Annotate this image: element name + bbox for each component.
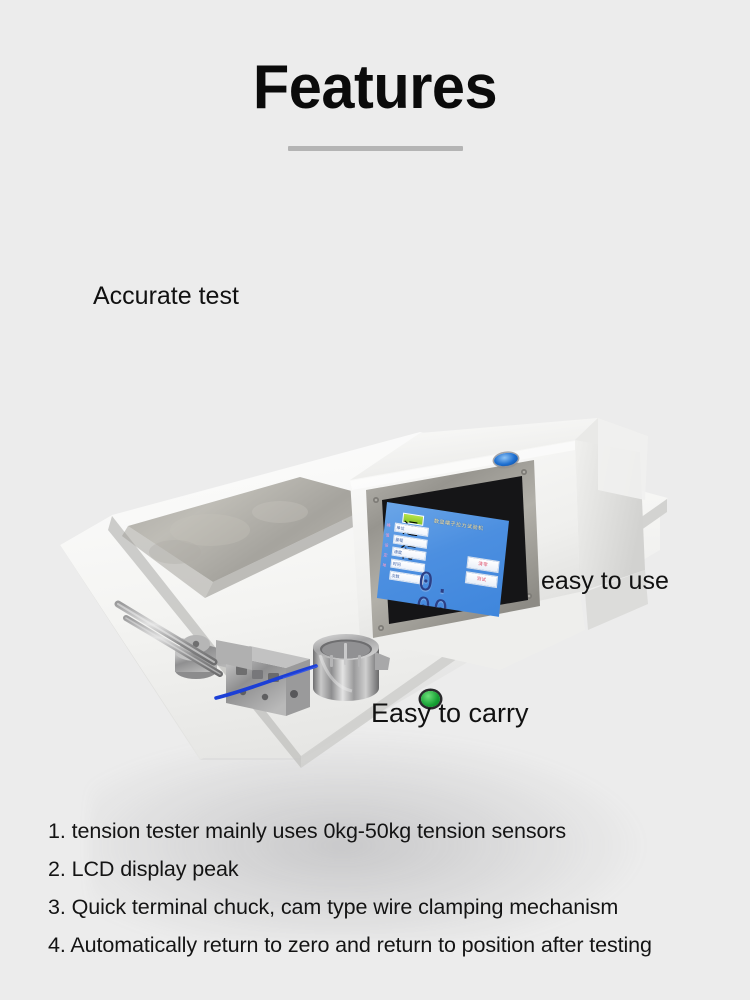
- callout-easy-to-use: easy to use: [541, 569, 669, 594]
- feature-list: 1. tension tester mainly uses 0kg-50kg t…: [48, 812, 738, 964]
- title-divider: [288, 146, 463, 151]
- lcd-field-label: 速度: [394, 549, 402, 554]
- feature-item: 4. Automatically return to zero and retu…: [48, 926, 738, 964]
- lcd-button-zero[interactable]: 清零: [466, 556, 499, 573]
- callout-easy-to-carry: Easy to carry: [371, 700, 529, 727]
- feature-item: 1. tension tester mainly uses 0kg-50kg t…: [48, 812, 738, 850]
- callout-accurate-test: Accurate test: [93, 284, 239, 309]
- lcd-field-label: 量程: [395, 537, 403, 542]
- lcd-title-bar: 数显端子拉力试验机: [419, 513, 498, 535]
- lcd-field-label: 单位: [396, 525, 404, 530]
- product-feature-page: Features: [0, 0, 750, 1000]
- lcd-screen[interactable]: 数显端子拉力试验机 运行 峰 值 设 定 单 单位 量程 速度 时间 次数 清零: [377, 502, 509, 617]
- feature-item: 3. Quick terminal chuck, cam type wire c…: [48, 888, 738, 926]
- feature-item: 2. LCD display peak: [48, 850, 738, 888]
- lcd-display[interactable]: 数显端子拉力试验机 运行 峰 值 设 定 单 单位 量程 速度 时间 次数 清零: [377, 502, 509, 617]
- page-title: Features: [15, 57, 735, 119]
